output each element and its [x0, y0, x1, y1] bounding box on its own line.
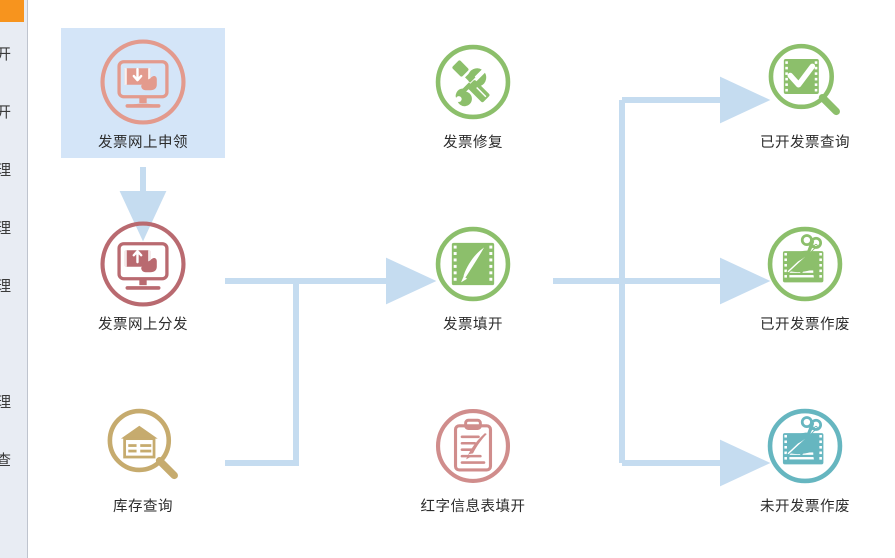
node-label: 发票修复: [391, 134, 555, 152]
node-invoice-online-apply[interactable]: 发票网上申领: [61, 28, 225, 158]
clipboard-pen-icon: [427, 400, 519, 492]
invoice-scissors-icon: [759, 400, 851, 492]
sidebar-item-label: 理: [0, 393, 11, 411]
warehouse-search-icon: [97, 400, 189, 492]
sidebar-item-label: 开: [0, 45, 11, 63]
sidebar-active-tab[interactable]: [0, 0, 24, 22]
monitor-download-icon: [97, 36, 189, 128]
sidebar-item-1[interactable]: 开: [0, 103, 28, 121]
node-issued-invoice-query[interactable]: 已开发票查询: [723, 28, 887, 158]
node-red-letter-form-fill[interactable]: 红字信息表填开: [391, 392, 555, 522]
monitor-upload-icon: [97, 218, 189, 310]
node-label: 发票填开: [391, 316, 555, 334]
node-invoice-fill-issue[interactable]: 发票填开: [391, 210, 555, 340]
sidebar-item-6[interactable]: 查: [0, 451, 28, 469]
node-label: 红字信息表填开: [391, 498, 555, 516]
sidebar-item-label: 理: [0, 277, 11, 295]
sidebar-item-3[interactable]: 理: [0, 219, 28, 237]
sidebar-item-5[interactable]: 理: [0, 393, 28, 411]
sidebar-item-0[interactable]: 开: [0, 45, 28, 63]
wrench-screwdriver-icon: [427, 36, 519, 128]
flow-canvas: 发票网上申领 发票网上分发 库存查询: [29, 0, 895, 558]
invoice-quill-icon: [427, 218, 519, 310]
node-inventory-query[interactable]: 库存查询: [61, 392, 225, 522]
sidebar-item-label: 开: [0, 103, 11, 121]
node-label: 未开发票作废: [723, 498, 887, 516]
sidebar-item-label: 查: [0, 451, 11, 469]
connector-inventory-to-fill: [225, 281, 296, 463]
node-label: 已开发票查询: [723, 134, 887, 152]
sidebar-item-label: 理: [0, 161, 11, 179]
node-label: 发票网上分发: [61, 316, 225, 334]
node-unissued-invoice-void[interactable]: 未开发票作废: [723, 392, 887, 522]
sidebar-item-label: 理: [0, 219, 11, 237]
node-label: 发票网上申领: [61, 134, 225, 152]
node-invoice-online-distribute[interactable]: 发票网上分发: [61, 210, 225, 340]
sidebar-item-4[interactable]: 理: [0, 277, 28, 295]
invoice-check-search-icon: [759, 36, 851, 128]
sidebar-item-2[interactable]: 理: [0, 161, 28, 179]
left-sidebar: 开 开 理 理 理 理 查: [0, 0, 28, 558]
node-issued-invoice-void[interactable]: 已开发票作废: [723, 210, 887, 340]
invoice-scissors-icon: [759, 218, 851, 310]
node-invoice-repair[interactable]: 发票修复: [391, 28, 555, 158]
node-label: 已开发票作废: [723, 316, 887, 334]
node-label: 库存查询: [61, 498, 225, 516]
